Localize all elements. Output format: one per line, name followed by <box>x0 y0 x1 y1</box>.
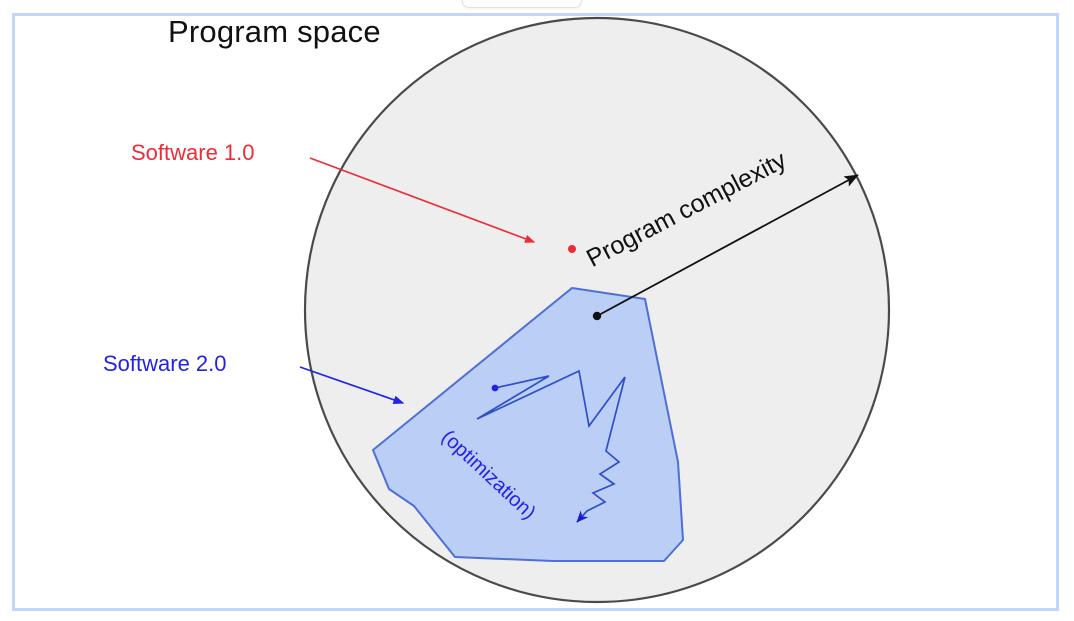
diagram-canvas <box>0 0 1074 621</box>
software-1-point <box>568 245 576 253</box>
complexity-origin-dot <box>593 312 601 320</box>
software-2-label: Software 2.0 <box>103 351 227 377</box>
optimization-start-dot <box>492 385 499 392</box>
slide-root: Program space Software 1.0 Software 2.0 … <box>0 0 1074 621</box>
page-title: Program space <box>168 14 381 50</box>
software-1-label: Software 1.0 <box>131 140 255 166</box>
